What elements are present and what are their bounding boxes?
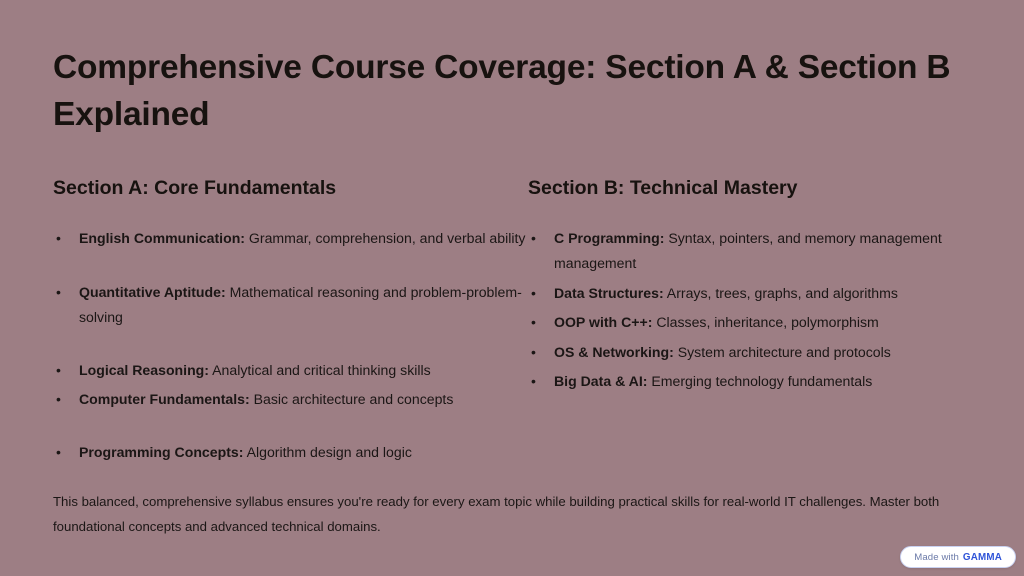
list-item: • Data Structures: Arrays, trees, graphs… <box>528 281 973 306</box>
list-item: • OS & Networking: System architecture a… <box>528 340 973 365</box>
section-b-heading: Section B: Technical Mastery <box>528 176 973 200</box>
bullet-icon: • <box>531 310 536 335</box>
page-title: Comprehensive Course Coverage: Section A… <box>53 44 953 138</box>
summary-paragraph: This balanced, comprehensive syllabus en… <box>53 489 953 539</box>
made-with-gamma-badge[interactable]: Made with GAMMA <box>900 546 1016 568</box>
list-item-term: English Communication: <box>79 230 245 246</box>
list-item: • Programming Concepts: Algorithm design… <box>53 440 528 465</box>
list-item-term: Programming Concepts: <box>79 444 243 460</box>
list-item-term: Data Structures: <box>554 285 664 301</box>
list-item-term: Logical Reasoning: <box>79 362 209 378</box>
list-item-term: OOP with C++: <box>554 314 652 330</box>
bullet-icon: • <box>531 226 536 251</box>
list-item: • OOP with C++: Classes, inheritance, po… <box>528 310 973 335</box>
list-item-term: OS & Networking: <box>554 344 674 360</box>
list-item-desc: Grammar, comprehension, and verbal abili… <box>245 230 525 246</box>
list-item: • Big Data & AI: Emerging technology fun… <box>528 369 973 394</box>
bullet-icon: • <box>56 387 61 412</box>
list-item: • Computer Fundamentals: Basic architect… <box>53 387 528 412</box>
list-item: • Logical Reasoning: Analytical and crit… <box>53 358 528 383</box>
section-a-heading: Section A: Core Fundamentals <box>53 176 528 200</box>
list-item-term: Quantitative Aptitude: <box>79 284 226 300</box>
list-item-desc: Analytical and critical thinking skills <box>209 362 431 378</box>
bullet-icon: • <box>531 281 536 306</box>
bullet-icon: • <box>56 280 61 305</box>
list-item: • Quantitative Aptitude: Mathematical re… <box>53 280 528 330</box>
bullet-icon: • <box>56 358 61 383</box>
bullet-icon: • <box>531 340 536 365</box>
bullet-icon: • <box>56 226 61 251</box>
list-item-desc: Emerging technology fundamentals <box>647 373 872 389</box>
list-item-term: C Programming: <box>554 230 664 246</box>
list-item-term: Computer Fundamentals: <box>79 391 250 407</box>
list-item: • English Communication: Grammar, compre… <box>53 226 528 251</box>
section-b-bullet-list: • C Programming: Syntax, pointers, and m… <box>528 226 973 394</box>
list-item-desc: Classes, inheritance, polymorphism <box>652 314 878 330</box>
bullet-icon: • <box>56 440 61 465</box>
section-a-bullet-list: • English Communication: Grammar, compre… <box>53 226 528 465</box>
section-a-column: Section A: Core Fundamentals • English C… <box>53 176 528 494</box>
list-item-desc: System architecture and protocols <box>674 344 891 360</box>
badge-brand-label: GAMMA <box>963 552 1002 563</box>
list-item-term: Big Data & AI: <box>554 373 647 389</box>
list-item-desc: Algorithm design and logic <box>243 444 411 460</box>
list-item-desc: Arrays, trees, graphs, and algorithms <box>664 285 898 301</box>
list-item: • C Programming: Syntax, pointers, and m… <box>528 226 973 276</box>
slide-canvas: Comprehensive Course Coverage: Section A… <box>0 0 1024 576</box>
bullet-icon: • <box>531 369 536 394</box>
section-b-column: Section B: Technical Mastery • C Program… <box>528 176 973 494</box>
list-item-desc: Basic architecture and concepts <box>250 391 454 407</box>
two-column-content: Section A: Core Fundamentals • English C… <box>53 176 973 494</box>
badge-made-with-label: Made with <box>914 552 959 563</box>
